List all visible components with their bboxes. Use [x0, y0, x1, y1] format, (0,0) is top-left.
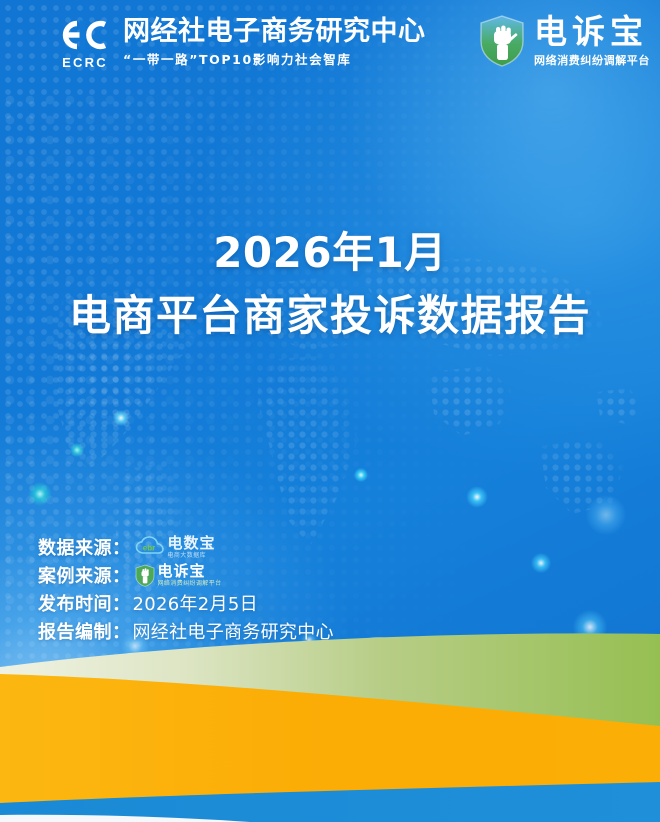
ecrc-mark: ECRC: [55, 16, 115, 70]
dianshubao-text-block: 电诉宝 网络消费纠纷调解平台: [534, 15, 650, 68]
glow-node: [28, 482, 52, 506]
glow-node: [531, 553, 551, 573]
meta-label: 发布时间：: [38, 590, 131, 616]
mini-logo-tagline: 网络消费纠纷调解平台: [158, 581, 222, 587]
dianshubao-brand: 电诉宝: [534, 15, 650, 48]
poster-header: ECRC 网经社电子商务研究中心 “一带一路”TOP10影响力社会智库: [0, 0, 660, 90]
bottom-wave-bands: [0, 622, 660, 822]
mini-logo-brand: 电数宝: [168, 536, 216, 551]
dianshubao-logo-lockup: 电诉宝 网络消费纠纷调解平台: [478, 14, 650, 68]
shield-fist-icon: [478, 14, 526, 68]
meta-label: 数据来源：: [38, 534, 131, 560]
dianshubao-tagline: 网络消费纠纷调解平台: [534, 52, 650, 68]
meta-row-publish-date: 发布时间： 2026年2月5日: [38, 589, 334, 617]
cloud-icon: ebr: [135, 536, 165, 558]
report-title: 电商平台商家投诉数据报告: [0, 290, 660, 341]
title-block: 2026年1月 电商平台商家投诉数据报告: [0, 228, 660, 341]
ecrc-tagline: “一带一路”TOP10影响力社会智库: [123, 49, 426, 68]
glow-node: [586, 495, 626, 535]
mini-logo-tagline: 电商大数据库: [168, 553, 216, 559]
meta-value: 2026年2月5日: [133, 590, 258, 616]
svg-text:ebr: ebr: [142, 544, 154, 553]
shield-fist-icon: [135, 564, 155, 587]
meta-label: 案例来源：: [38, 562, 131, 588]
dianshubao-case-logo: 电诉宝 网络消费纠纷调解平台: [135, 564, 222, 587]
ec-monogram-icon: [55, 16, 115, 54]
mini-logo-brand: 电诉宝: [158, 564, 222, 579]
report-period: 2026年1月: [0, 228, 660, 278]
ecrc-logo-lockup: ECRC 网经社电子商务研究中心 “一带一路”TOP10影响力社会智库: [55, 16, 426, 70]
ecrc-acronym: ECRC: [55, 55, 115, 70]
glow-node: [113, 410, 129, 426]
dianshubao-data-logo: ebr 电数宝 电商大数据库: [135, 536, 216, 559]
report-cover-poster: ECRC 网经社电子商务研究中心 “一带一路”TOP10影响力社会智库: [0, 0, 660, 822]
meta-row-data-source: 数据来源： ebr 电数宝 电商大数据库: [38, 533, 334, 561]
glow-node: [354, 468, 368, 482]
ecrc-text-block: 网经社电子商务研究中心 “一带一路”TOP10影响力社会智库: [123, 16, 426, 68]
halftone-dot-pattern-large: [0, 90, 380, 610]
ecrc-org-name: 网经社电子商务研究中心: [123, 18, 426, 46]
glow-node: [466, 486, 488, 508]
glow-node: [70, 443, 84, 457]
meta-row-case-source: 案例来源： 电诉宝 网络消费纠纷调解平台: [38, 561, 334, 589]
